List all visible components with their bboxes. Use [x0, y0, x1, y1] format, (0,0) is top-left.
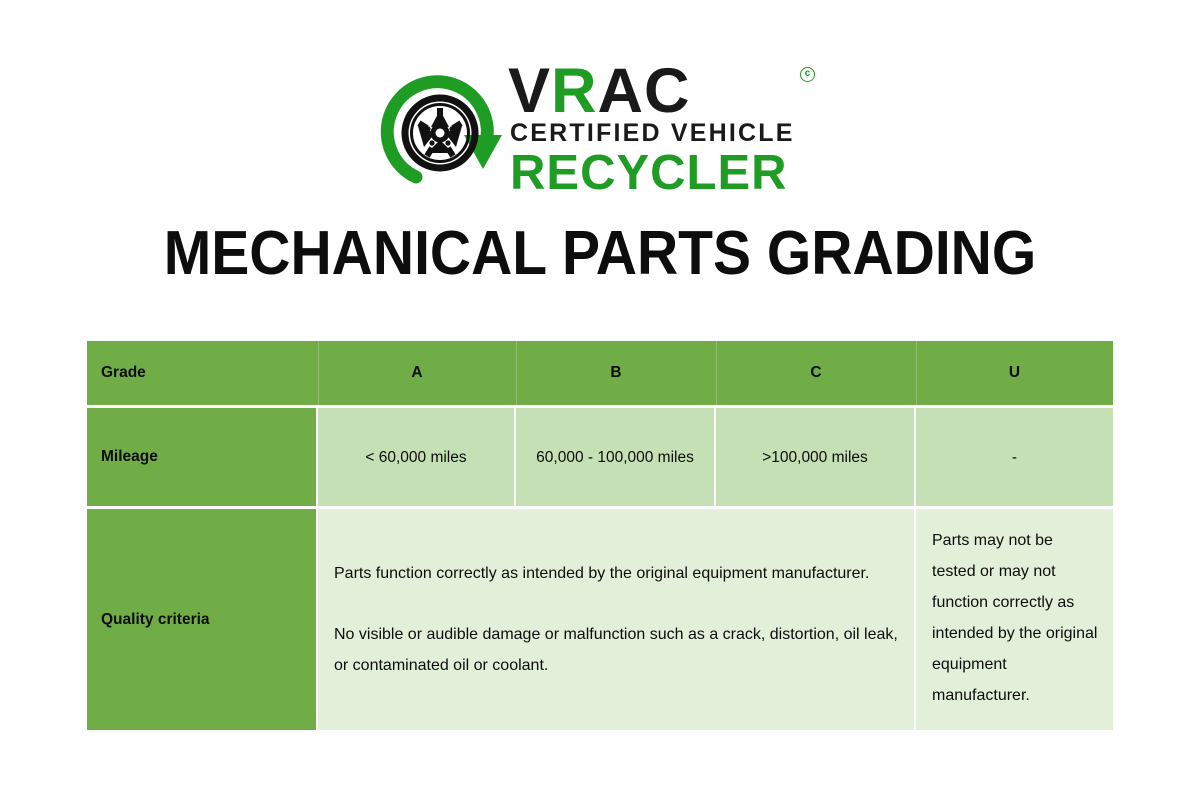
- cell-quality-u: Parts may not be tested or may not funct…: [916, 509, 1113, 730]
- table-header-b: B: [516, 341, 716, 405]
- brand-letter-r: R: [551, 56, 598, 126]
- table-header-grade: Grade: [87, 341, 318, 405]
- row-label-quality-criteria: Quality criteria: [87, 509, 316, 730]
- brand-letters-ac: AC: [598, 56, 691, 126]
- logo-tagline: CERTIFIED VEHICLE: [510, 119, 795, 148]
- recycling-wheel-icon: [378, 65, 508, 195]
- cell-mileage-u: -: [916, 408, 1113, 506]
- cell-mileage-c: >100,000 miles: [716, 408, 914, 506]
- brand-name: VRAC: [508, 59, 691, 123]
- cell-mileage-a: < 60,000 miles: [318, 408, 514, 506]
- quality-paragraph-2: No visible or audible damage or malfunct…: [334, 619, 898, 681]
- row-label-mileage: Mileage: [87, 408, 316, 506]
- table-row-quality-criteria: Quality criteria Parts function correctl…: [87, 509, 1113, 730]
- copyright-icon: c: [800, 67, 815, 82]
- cell-mileage-b: 60,000 - 100,000 miles: [516, 408, 714, 506]
- cell-quality-abc: Parts function correctly as intended by …: [318, 509, 914, 730]
- vrac-logo: VRAC c CERTIFIED VEHICLE RECYCLER: [378, 55, 838, 200]
- page-title: MECHANICAL PARTS GRADING: [48, 218, 1152, 289]
- logo-wordmark: VRAC c CERTIFIED VEHICLE RECYCLER: [508, 55, 838, 200]
- table-header-a: A: [318, 341, 516, 405]
- table-header-c: C: [716, 341, 916, 405]
- quality-u-paragraph: Parts may not be tested or may not funct…: [932, 525, 1099, 711]
- quality-paragraph-1: Parts function correctly as intended by …: [334, 558, 869, 589]
- table-header-u: U: [916, 341, 1113, 405]
- logo-subbrand: RECYCLER: [510, 145, 788, 201]
- brand-letter-v: V: [508, 56, 551, 126]
- table-row-mileage: Mileage < 60,000 miles 60,000 - 100,000 …: [87, 408, 1113, 506]
- table-header-row: Grade A B C U: [87, 341, 1113, 405]
- mechanical-parts-grading-table: Grade A B C U Mileage < 60,000 miles 60,…: [87, 341, 1113, 730]
- grading-chart-page: VRAC c CERTIFIED VEHICLE RECYCLER MECHAN…: [0, 0, 1200, 800]
